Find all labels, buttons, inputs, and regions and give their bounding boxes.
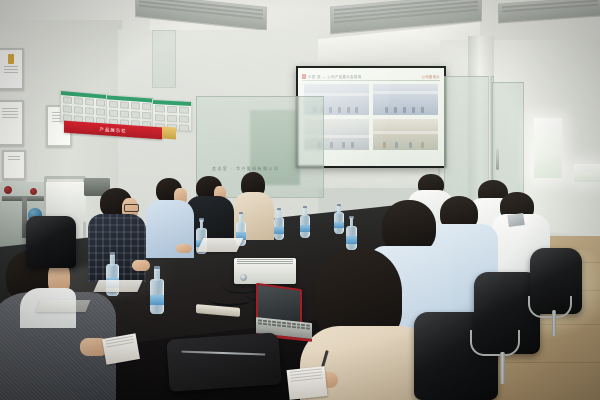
water-bottle	[150, 266, 164, 314]
glass-etched-text: 会议室 · 华兴股份有限公司	[212, 166, 279, 172]
red-knob-icon	[30, 188, 37, 195]
chair-post	[500, 352, 505, 384]
conference-room-photo: 产品展示栏 中国·展 — 公司产品展示会现场 公司宣传片	[0, 0, 600, 400]
water-bottle	[346, 216, 357, 250]
window-right	[534, 118, 562, 178]
chair-post	[552, 310, 556, 336]
window-far-right	[574, 164, 600, 182]
chair-armrest	[470, 330, 520, 356]
glass-panel-upper-right	[152, 30, 176, 88]
document-sheet	[93, 280, 142, 292]
water-bottle	[274, 208, 284, 240]
cable	[208, 292, 252, 306]
bag-zipper	[181, 351, 265, 356]
red-banner-text: 产品展示栏	[99, 126, 126, 134]
framed-certificate	[0, 48, 24, 90]
eyeglasses-icon	[124, 204, 139, 212]
chair-armrest	[528, 296, 572, 318]
handbag	[166, 332, 281, 392]
attendee-hand	[132, 260, 150, 271]
document-sheet	[197, 238, 244, 252]
slide-corner-text: 公司宣传片	[422, 74, 440, 79]
red-knob-icon	[4, 186, 12, 194]
office-chair-background	[26, 216, 76, 268]
attendee-hand	[176, 244, 192, 253]
water-bottle	[300, 206, 310, 238]
framed-certificate	[2, 150, 26, 180]
notepad	[287, 366, 328, 400]
banner-end-cap	[162, 127, 176, 140]
framed-certificate	[0, 100, 24, 146]
water-bottle	[334, 204, 344, 234]
document-sheet	[36, 300, 91, 312]
shirt-collar	[507, 213, 525, 227]
door-handle	[496, 148, 499, 170]
